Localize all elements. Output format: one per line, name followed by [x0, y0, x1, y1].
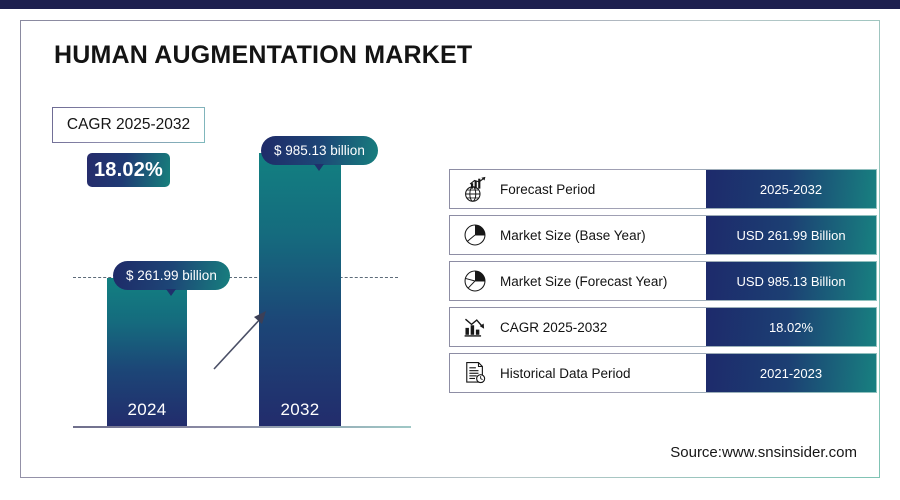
pie-chart-three-slice-icon: [459, 266, 491, 296]
table-row-right: USD 985.13 Billion: [706, 262, 876, 300]
table-row: CAGR 2025-2032 18.02%: [449, 307, 877, 347]
value-callout-2032-text: $ 985.13 billion: [274, 143, 365, 158]
table-row-value: 2021-2023: [760, 366, 822, 381]
table-row-left: Market Size (Forecast Year): [450, 262, 706, 300]
table-row-right: 2025-2032: [706, 170, 876, 208]
table-row-right: USD 261.99 Billion: [706, 216, 876, 254]
table-row-left: Market Size (Base Year): [450, 216, 706, 254]
table-row-label: Forecast Period: [500, 182, 595, 197]
bar-2024: 2024: [107, 278, 187, 426]
table-row-label: Market Size (Base Year): [500, 228, 646, 243]
table-row-label: CAGR 2025-2032: [500, 320, 607, 335]
source-attribution: Source:www.snsinsider.com: [670, 444, 857, 461]
growth-arrow-icon: [206, 303, 276, 375]
value-callout-2024: $ 261.99 billion: [113, 261, 230, 290]
table-row: Market Size (Forecast Year) USD 985.13 B…: [449, 261, 877, 301]
table-row-left: Forecast Period: [450, 170, 706, 208]
value-callout-2024-text: $ 261.99 billion: [126, 268, 217, 283]
table-row-label: Historical Data Period: [500, 366, 631, 381]
table-row: Market Size (Base Year) USD 261.99 Billi…: [449, 215, 877, 255]
table-row-value: USD 261.99 Billion: [736, 228, 845, 243]
bar-chart: 2024 2032 $ 261.99 billion $ 985.13 bill…: [21, 21, 441, 479]
table-row-value: 2025-2032: [760, 182, 822, 197]
bar-label-2032: 2032: [259, 400, 341, 420]
globe-growth-chart-icon: [459, 174, 491, 204]
table-row-right: 18.02%: [706, 308, 876, 346]
value-callout-2032: $ 985.13 billion: [261, 136, 378, 165]
table-row-left: Historical Data Period: [450, 354, 706, 392]
table-row: Forecast Period 2025-2032: [449, 169, 877, 209]
pie-chart-icon: [459, 220, 491, 250]
table-row-value: USD 985.13 Billion: [736, 274, 845, 289]
bar-label-2024: 2024: [107, 400, 187, 420]
top-accent-bar: [0, 0, 900, 9]
infographic-root: HUMAN AUGMENTATION MARKET CAGR 2025-2032…: [0, 0, 900, 500]
content-panel: HUMAN AUGMENTATION MARKET CAGR 2025-2032…: [20, 20, 880, 478]
key-metrics-table: Forecast Period 2025-2032: [449, 169, 877, 399]
table-row-right: 2021-2023: [706, 354, 876, 392]
table-row-value: 18.02%: [769, 320, 813, 335]
bar-2032: 2032: [259, 153, 341, 426]
bar-chart-declining-line-icon: [459, 312, 491, 342]
chart-baseline-axis: [73, 426, 411, 428]
document-clock-icon: [459, 358, 491, 388]
table-row: Historical Data Period 2021-2023: [449, 353, 877, 393]
table-row-label: Market Size (Forecast Year): [500, 274, 667, 289]
table-row-left: CAGR 2025-2032: [450, 308, 706, 346]
